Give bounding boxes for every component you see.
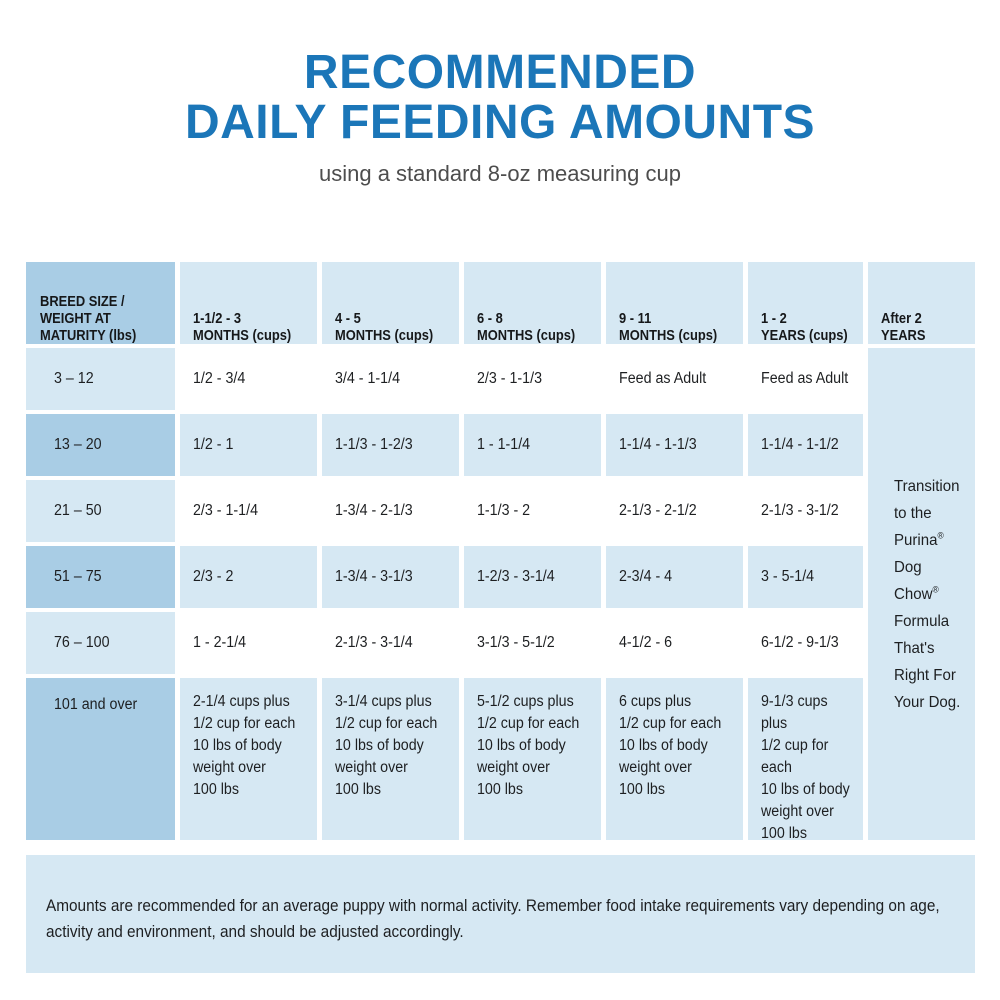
table-cell-after-2-years: Transitionto thePurina®Dog Chow®FormulaT… xyxy=(868,348,975,840)
table-cell: 2-1/4 cups plus 1/2 cup for each 10 lbs … xyxy=(180,678,317,840)
table-cell: 5-1/2 cups plus 1/2 cup for each 10 lbs … xyxy=(464,678,601,840)
table-cell: 2-1/3 - 3-1/4 xyxy=(322,612,459,674)
registered-icon: ® xyxy=(937,530,943,540)
table-header-1-5-to-3-months: 1-1/2 - 3 MONTHS (cups) xyxy=(180,262,317,344)
table-header-after-2-years: After 2 YEARS xyxy=(868,262,975,344)
table-cell: 1-2/3 - 3-1/4 xyxy=(464,546,601,608)
after-line-1: Transition xyxy=(894,478,959,495)
table-cell: 1-3/4 - 2-1/3 xyxy=(322,480,459,542)
after-line-7: Right For xyxy=(894,667,956,684)
table-cell: 2/3 - 1-1/3 xyxy=(464,348,601,410)
table-header-breed-size: BREED SIZE / WEIGHT AT MATURITY (lbs) xyxy=(26,262,175,344)
after-line-4: Dog Chow xyxy=(894,559,932,603)
title-line-2: DAILY FEEDING AMOUNTS xyxy=(0,98,1000,148)
table-header-4-to-5-months: 4 - 5 MONTHS (cups) xyxy=(322,262,459,344)
after-line-8: Your Dog. xyxy=(894,694,960,711)
footer-note-text: Amounts are recommended for an average p… xyxy=(46,893,941,945)
table-cell: Feed as Adult xyxy=(606,348,743,410)
table-cell: Feed as Adult xyxy=(748,348,863,410)
table-cell: 2/3 - 1-1/4 xyxy=(180,480,317,542)
table-cell: 1-1/3 - 1-2/3 xyxy=(322,414,459,476)
table-header-1-to-2-years: 1 - 2 YEARS (cups) xyxy=(748,262,863,344)
table-cell: 1-1/3 - 2 xyxy=(464,480,601,542)
table-cell: 3 - 5-1/4 xyxy=(748,546,863,608)
table-cell: 2/3 - 2 xyxy=(180,546,317,608)
table-row: 13 – 20 xyxy=(26,414,175,476)
table-cell: 1-3/4 - 3-1/3 xyxy=(322,546,459,608)
footer-note-box: Amounts are recommended for an average p… xyxy=(26,855,975,973)
table-cell: 6 cups plus 1/2 cup for each 10 lbs of b… xyxy=(606,678,743,840)
table-cell: 3-1/3 - 5-1/2 xyxy=(464,612,601,674)
table-row: 101 and over xyxy=(26,678,175,840)
after-line-3: Purina xyxy=(894,532,937,549)
feeding-table: BREED SIZE / WEIGHT AT MATURITY (lbs) 1-… xyxy=(26,262,975,840)
table-cell: 2-1/3 - 2-1/2 xyxy=(606,480,743,542)
table-cell: 4-1/2 - 6 xyxy=(606,612,743,674)
after-line-6: That's xyxy=(894,640,934,657)
table-row: 21 – 50 xyxy=(26,480,175,542)
registered-icon: ® xyxy=(932,584,938,594)
page-subtitle: using a standard 8-oz measuring cup xyxy=(0,161,1000,187)
table-header-6-to-8-months: 6 - 8 MONTHS (cups) xyxy=(464,262,601,344)
table-row: 76 – 100 xyxy=(26,612,175,674)
table-cell: 1 - 1-1/4 xyxy=(464,414,601,476)
table-cell: 1-1/4 - 1-1/2 xyxy=(748,414,863,476)
table-cell: 1/2 - 3/4 xyxy=(180,348,317,410)
table-row: 3 – 12 xyxy=(26,348,175,410)
feeding-table-grid: BREED SIZE / WEIGHT AT MATURITY (lbs) 1-… xyxy=(26,262,975,840)
table-cell: 3/4 - 1-1/4 xyxy=(322,348,459,410)
table-cell: 1 - 2-1/4 xyxy=(180,612,317,674)
title-line-1: RECOMMENDED xyxy=(0,48,1000,98)
after-line-2: to the xyxy=(894,505,932,522)
table-cell: 3-1/4 cups plus 1/2 cup for each 10 lbs … xyxy=(322,678,459,840)
table-row: 51 – 75 xyxy=(26,546,175,608)
table-cell: 2-1/3 - 3-1/2 xyxy=(748,480,863,542)
table-cell: 6-1/2 - 9-1/3 xyxy=(748,612,863,674)
table-cell: 2-3/4 - 4 xyxy=(606,546,743,608)
table-cell: 9-1/3 cups plus 1/2 cup for each 10 lbs … xyxy=(748,678,863,840)
feeding-chart-page: RECOMMENDED DAILY FEEDING AMOUNTS using … xyxy=(0,0,1000,1000)
table-cell: 1/2 - 1 xyxy=(180,414,317,476)
table-cell: 1-1/4 - 1-1/3 xyxy=(606,414,743,476)
after-line-5: Formula xyxy=(894,613,949,630)
table-header-9-to-11-months: 9 - 11 MONTHS (cups) xyxy=(606,262,743,344)
page-title: RECOMMENDED DAILY FEEDING AMOUNTS using … xyxy=(0,48,1000,187)
